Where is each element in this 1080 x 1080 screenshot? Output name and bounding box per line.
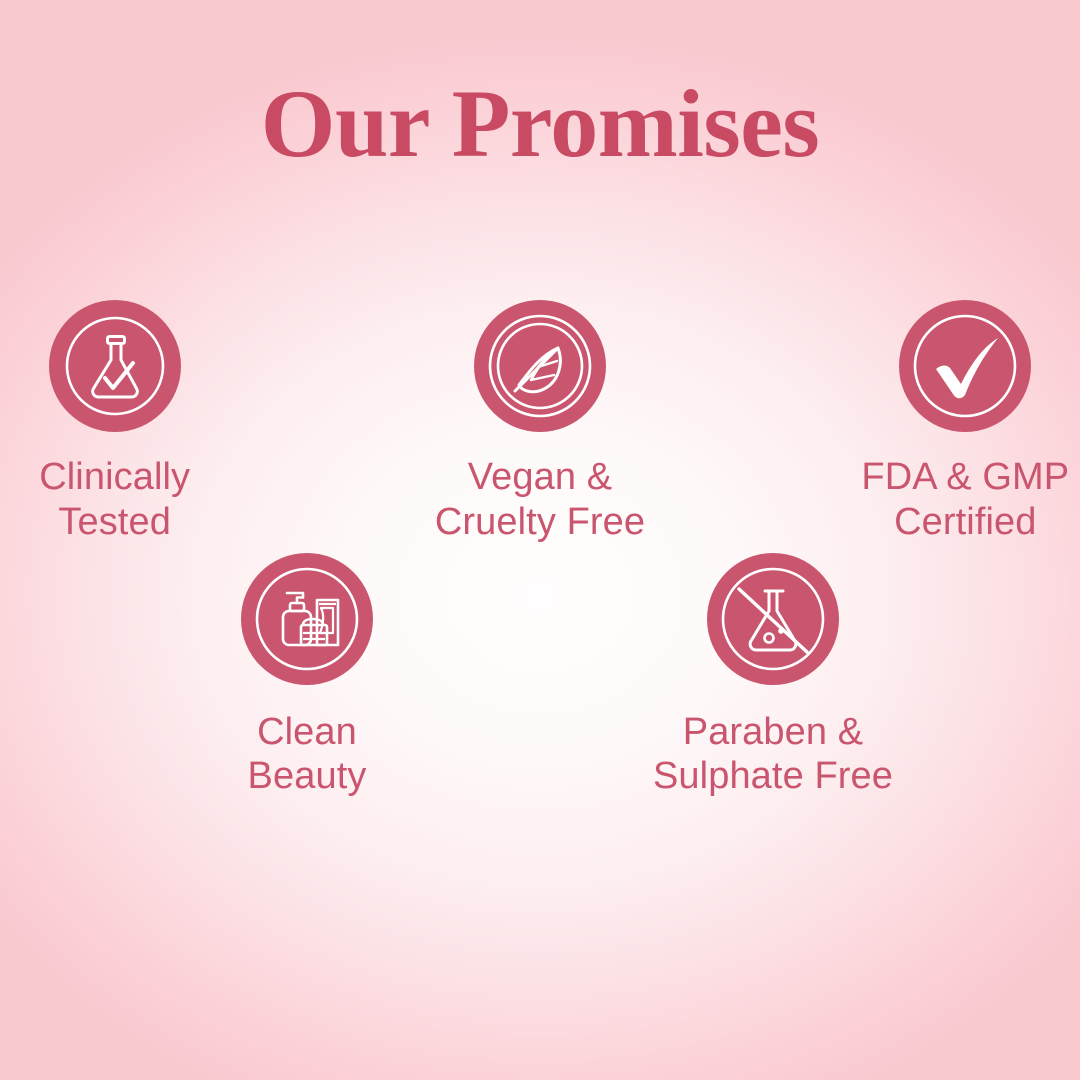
- promise-label: Paraben & Sulphate Free: [653, 710, 893, 800]
- leaf-icon: [474, 300, 606, 432]
- no-chemicals-icon: [707, 553, 839, 685]
- promise-item-clinically-tested[interactable]: Clinically Tested: [0, 300, 229, 545]
- promise-row-top: Clinically Tested: [0, 300, 1080, 545]
- promise-label: Clinically Tested: [39, 455, 190, 545]
- promise-item-paraben-sulphate-free[interactable]: Paraben & Sulphate Free: [640, 553, 906, 800]
- page-title: Our Promises: [0, 74, 1080, 175]
- cosmetic-bottles-icon: [241, 553, 373, 685]
- promises-panel: Our Promises Clinically Tested: [0, 0, 1080, 1080]
- flask-check-icon: [49, 300, 181, 432]
- promise-label: Clean Beauty: [248, 710, 367, 800]
- promise-item-clean-beauty[interactable]: Clean Beauty: [174, 553, 440, 800]
- promise-item-fda-gmp-certified[interactable]: FDA & GMP Certified: [851, 300, 1080, 545]
- promise-label: FDA & GMP Certified: [861, 455, 1069, 545]
- promise-label: Vegan & Cruelty Free: [435, 455, 645, 545]
- check-mark-icon: [899, 300, 1031, 432]
- promise-row-bottom: Clean Beauty: [0, 553, 1080, 800]
- promise-item-vegan-cruelty-free[interactable]: Vegan & Cruelty Free: [425, 300, 654, 545]
- promise-grid: Clinically Tested: [0, 300, 1080, 799]
